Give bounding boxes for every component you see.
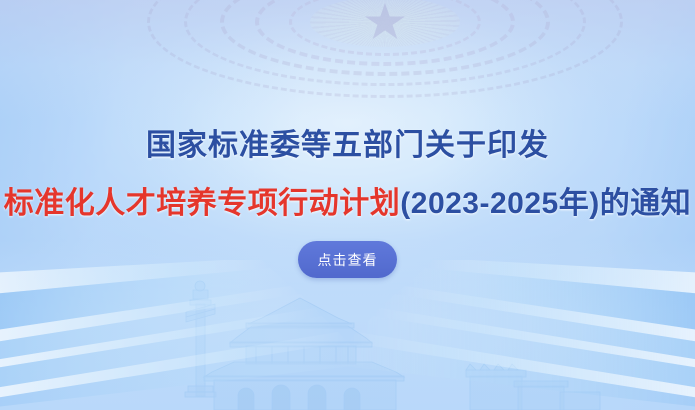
banner-title-plan-name: 标准化人才培养专项行动计划 [4,187,401,220]
policy-announcement-banner: 国家标准委等五部门关于印发 标准化人才培养专项行动计划(2023-2025年)的… [0,0,695,410]
cta-container: 点击查看 [0,241,695,278]
banner-title-year-range: (2023-2025年) [400,187,599,220]
banner-title-suffix: 的通知 [600,187,692,220]
tiananmen-silhouette [0,260,695,410]
banner-title-line-1: 国家标准委等五部门关于印发 [0,120,695,164]
view-detail-button[interactable]: 点击查看 [298,241,397,278]
banner-title-line-2: 标准化人才培养专项行动计划(2023-2025年)的通知 [0,178,695,222]
